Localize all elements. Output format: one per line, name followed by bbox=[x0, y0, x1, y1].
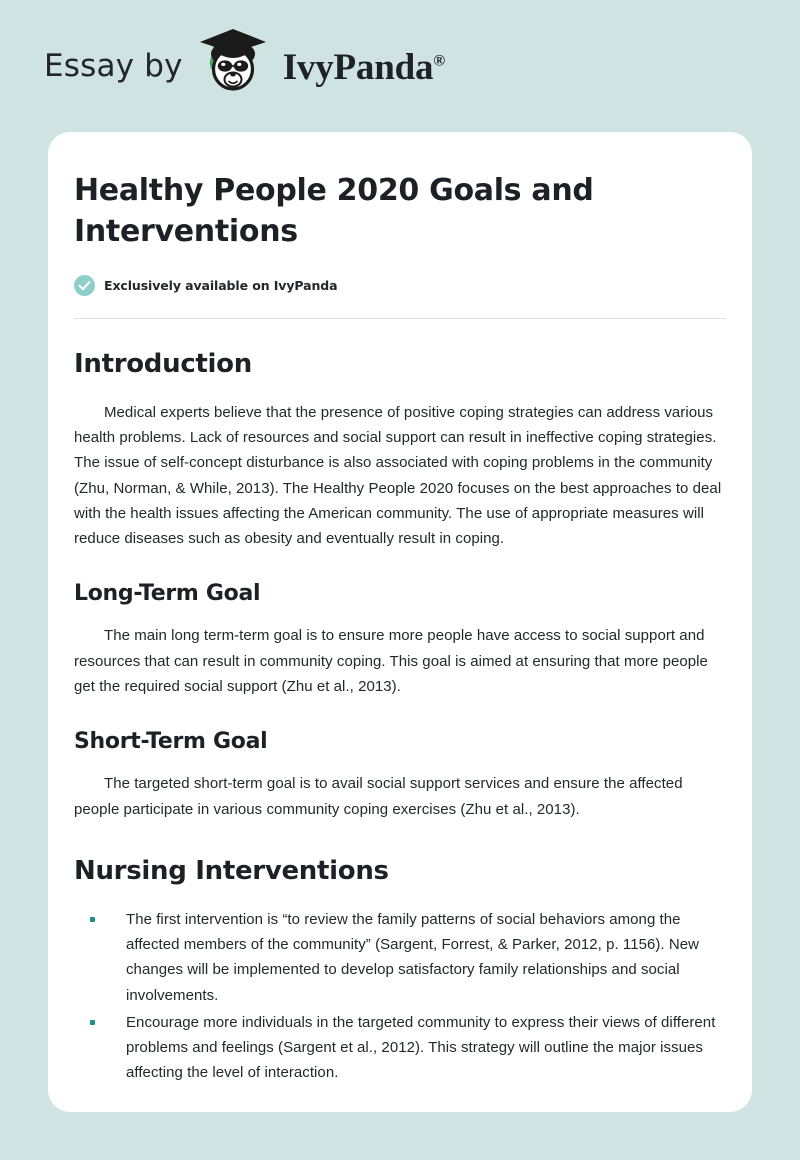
section-paragraph-long-term-goal: The main long term-term goal is to ensur… bbox=[74, 623, 726, 699]
section-heading-introduction: Introduction bbox=[74, 349, 726, 380]
list-item-text: Encourage more individuals in the target… bbox=[126, 1014, 715, 1081]
registered-mark: ® bbox=[433, 52, 445, 69]
list-item: The first intervention is “to review the… bbox=[74, 907, 726, 1008]
page-title: Healthy People 2020 Goals and Interventi… bbox=[74, 170, 634, 253]
exclusive-availability-badge: Exclusively available on IvyPanda bbox=[74, 275, 726, 296]
list-item-text: The first intervention is “to review the… bbox=[126, 911, 699, 1004]
brand-wordmark: IvyPanda® bbox=[283, 49, 445, 86]
check-circle-icon bbox=[74, 275, 95, 296]
essay-card: Healthy People 2020 Goals and Interventi… bbox=[48, 132, 752, 1112]
bullet-dot-icon bbox=[90, 1020, 95, 1025]
bullet-dot-icon bbox=[90, 917, 95, 922]
section-paragraph-short-term-goal: The targeted short-term goal is to avail… bbox=[74, 771, 726, 821]
brand-wordmark-text: IvyPanda bbox=[283, 47, 434, 88]
title-divider bbox=[74, 318, 726, 319]
section-heading-nursing-interventions: Nursing Interventions bbox=[74, 856, 726, 887]
nursing-interventions-list: The first intervention is “to review the… bbox=[74, 907, 726, 1085]
brand-lockup[interactable]: Essay by bbox=[44, 29, 445, 103]
section-paragraph-introduction: Medical experts believe that the presenc… bbox=[74, 400, 726, 551]
exclusive-availability-label: Exclusively available on IvyPanda bbox=[104, 278, 337, 293]
panda-graduate-logo-icon bbox=[197, 26, 269, 100]
brand-header: Essay by bbox=[0, 0, 800, 132]
brand-prefix-label: Essay by bbox=[44, 51, 183, 82]
section-heading-long-term-goal: Long-Term Goal bbox=[74, 581, 726, 607]
list-item: Encourage more individuals in the target… bbox=[74, 1010, 726, 1086]
section-heading-short-term-goal: Short-Term Goal bbox=[74, 729, 726, 755]
